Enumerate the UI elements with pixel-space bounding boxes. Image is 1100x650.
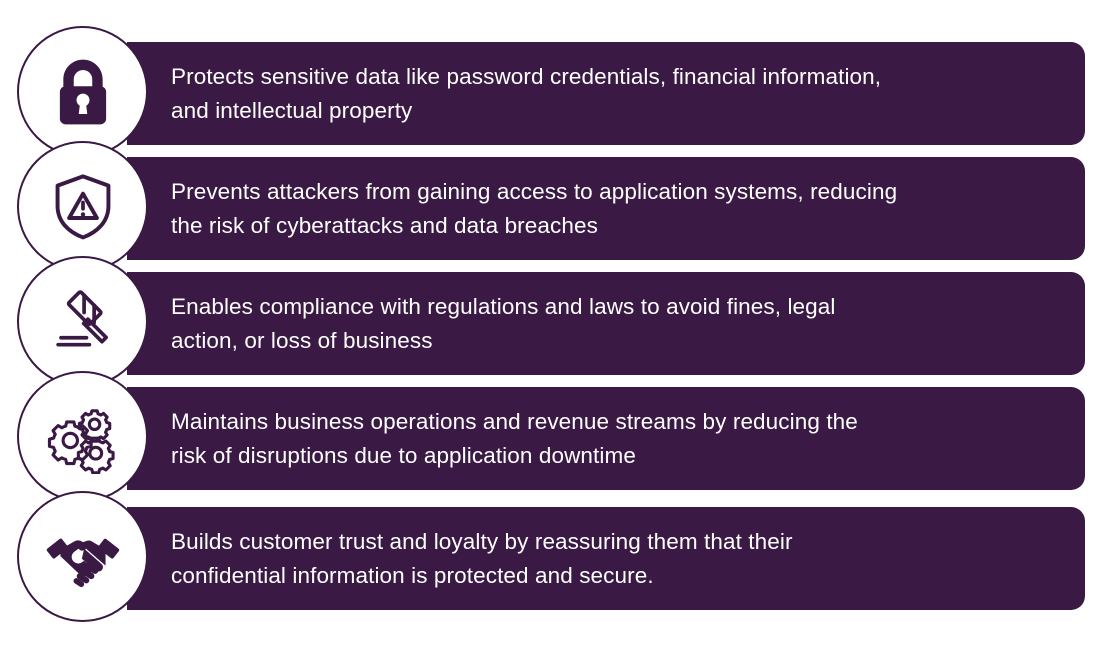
shield-warning-icon	[46, 170, 120, 244]
benefit-icon-circle	[17, 256, 148, 387]
benefit-text: Prevents attackers from gaining access t…	[127, 175, 925, 243]
benefits-infographic: Protects sensitive data like password cr…	[0, 0, 1100, 650]
list-item: Builds customer trust and loyalty by rea…	[0, 491, 1100, 622]
benefit-bar: Protects sensitive data like password cr…	[127, 42, 1085, 145]
list-item: Prevents attackers from gaining access t…	[0, 141, 1100, 272]
benefit-icon-circle	[17, 371, 148, 502]
list-item: Enables compliance with regulations and …	[0, 256, 1100, 387]
benefit-bar: Prevents attackers from gaining access t…	[127, 157, 1085, 260]
benefit-icon-circle	[17, 491, 148, 622]
benefit-text: Enables compliance with regulations and …	[127, 290, 863, 358]
benefit-bar: Maintains business operations and revenu…	[127, 387, 1085, 490]
benefit-bar: Builds customer trust and loyalty by rea…	[127, 507, 1085, 610]
handshake-icon	[46, 520, 120, 594]
benefit-text: Builds customer trust and loyalty by rea…	[127, 525, 821, 593]
benefit-bar: Enables compliance with regulations and …	[127, 272, 1085, 375]
benefit-icon-circle	[17, 141, 148, 272]
benefit-icon-circle	[17, 26, 148, 157]
list-item: Maintains business operations and revenu…	[0, 371, 1100, 502]
benefit-text: Protects sensitive data like password cr…	[127, 60, 909, 128]
gears-icon	[46, 400, 120, 474]
benefit-text: Maintains business operations and revenu…	[127, 405, 886, 473]
padlock-icon	[46, 55, 120, 129]
list-item: Protects sensitive data like password cr…	[0, 26, 1100, 157]
gavel-icon	[46, 285, 120, 359]
